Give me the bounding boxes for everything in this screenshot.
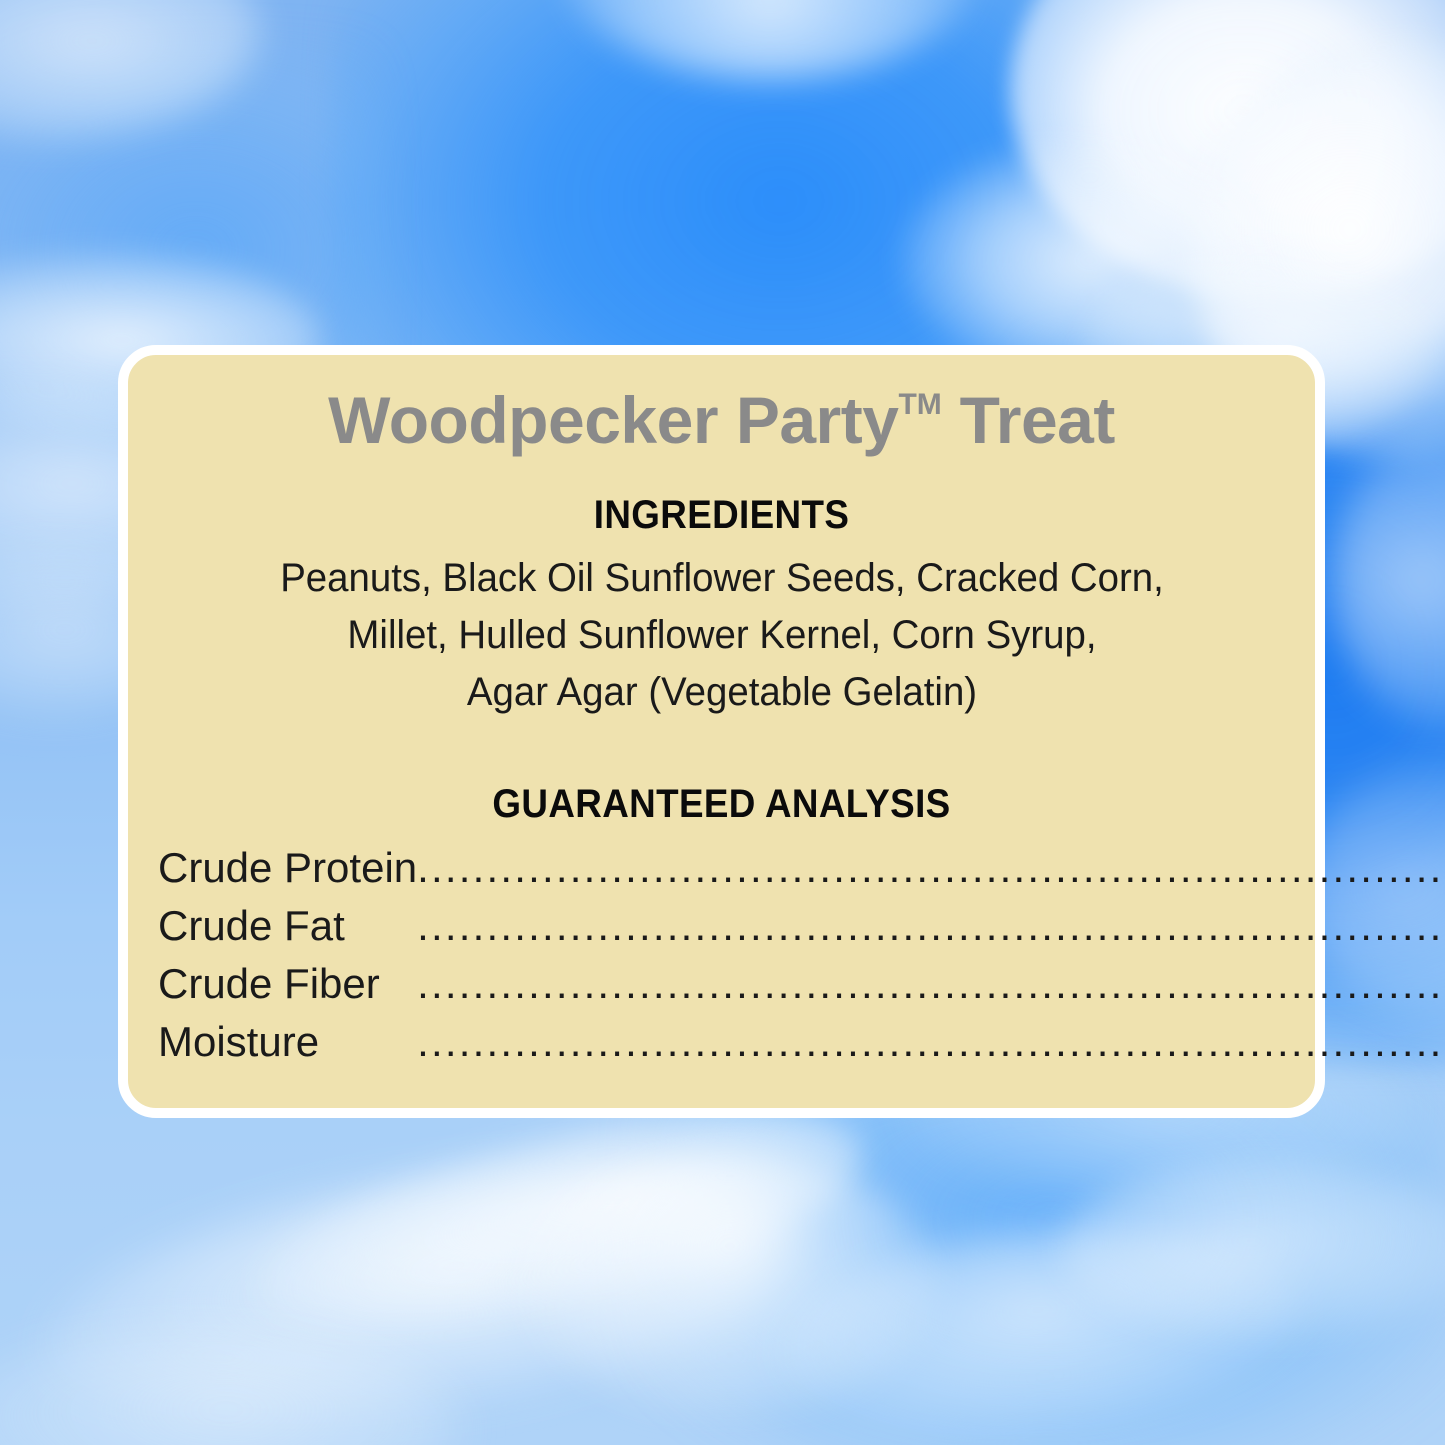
screenshot-stage: Woodpecker PartyTM Treat INGREDIENTS Pea…	[0, 0, 1445, 1445]
trademark-symbol: TM	[898, 388, 941, 421]
sky-deep-blue-region-bottom	[640, 1080, 1445, 1445]
label-card-inner: Woodpecker PartyTM Treat INGREDIENTS Pea…	[128, 355, 1315, 1108]
analysis-nutrient: Crude Fat	[158, 899, 417, 957]
ingredients-heading: INGREDIENTS	[203, 493, 1240, 538]
analysis-leader-dots	[417, 841, 1445, 899]
product-name: Woodpecker Party	[328, 383, 898, 457]
product-suffix: Treat	[960, 383, 1115, 457]
table-row: Crude Fat 22.0 % Min.	[158, 899, 1445, 957]
analysis-nutrient: Moisture	[158, 1015, 417, 1073]
product-label-card: Woodpecker PartyTM Treat INGREDIENTS Pea…	[118, 345, 1325, 1118]
guaranteed-analysis-heading: GUARANTEED ANALYSIS	[203, 782, 1240, 827]
table-row: Moisture 14.0 % Max.	[158, 1015, 1445, 1073]
analysis-nutrient: Crude Fiber	[158, 957, 417, 1015]
guaranteed-analysis-table: Crude Protein 12.0 % Min. Crude Fat 22.0…	[158, 841, 1445, 1073]
table-row: Crude Protein 12.0 % Min.	[158, 841, 1445, 899]
ingredients-line: Peanuts, Black Oil Sunflower Seeds, Crac…	[194, 550, 1250, 607]
ingredients-list: Peanuts, Black Oil Sunflower Seeds, Crac…	[194, 550, 1250, 720]
analysis-leader-dots	[417, 1015, 1445, 1073]
page-title: Woodpecker PartyTM Treat	[158, 387, 1285, 453]
ingredients-line: Millet, Hulled Sunflower Kernel, Corn Sy…	[194, 607, 1250, 664]
analysis-nutrient: Crude Protein	[158, 841, 417, 899]
analysis-leader-dots	[417, 899, 1445, 957]
ingredients-line: Agar Agar (Vegetable Gelatin)	[194, 664, 1250, 721]
table-row: Crude Fiber 16.0 % Max.	[158, 957, 1445, 1015]
analysis-leader-dots	[417, 957, 1445, 1015]
